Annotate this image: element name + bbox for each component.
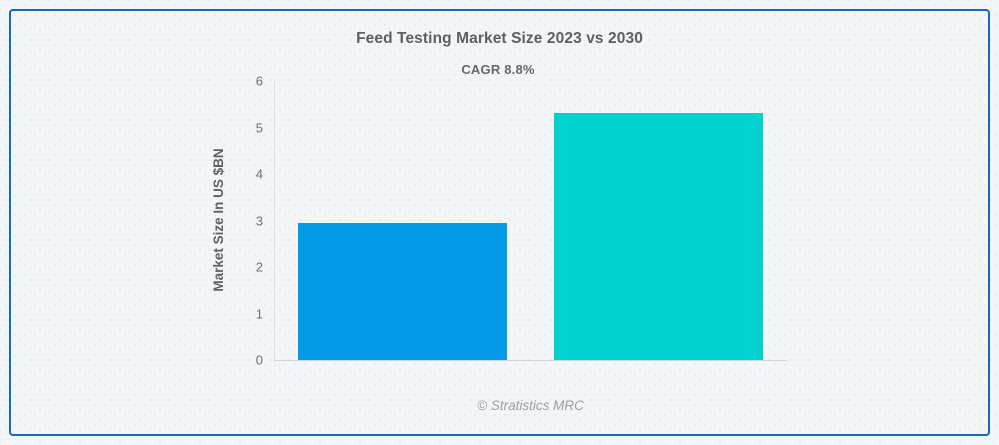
- chart-subtitle-cagr: CAGR 8.8%: [0, 62, 996, 77]
- plot-area: 012345620232030: [274, 81, 787, 360]
- chart-title: Feed Testing Market Size 2023 vs 2030: [0, 30, 999, 48]
- chart-attribution: © Stratistics MRC: [274, 398, 787, 413]
- y-axis-tick-label: 4: [256, 167, 263, 182]
- y-axis-tick-label: 0: [256, 353, 263, 368]
- chart-canvas: Feed Testing Market Size 2023 vs 2030 CA…: [0, 0, 999, 445]
- y-axis-title: Market Size In US $BN: [206, 80, 230, 360]
- y-axis-tick-label: 2: [256, 260, 263, 275]
- y-axis-tick-label: 6: [256, 74, 263, 89]
- bar-2030[interactable]: [554, 113, 763, 360]
- y-axis-tick-label: 1: [256, 306, 263, 321]
- x-axis-line: [274, 360, 787, 361]
- y-axis-tick-label: 5: [256, 120, 263, 135]
- bar-2023[interactable]: [298, 223, 507, 360]
- y-axis-tick-label: 3: [256, 213, 263, 228]
